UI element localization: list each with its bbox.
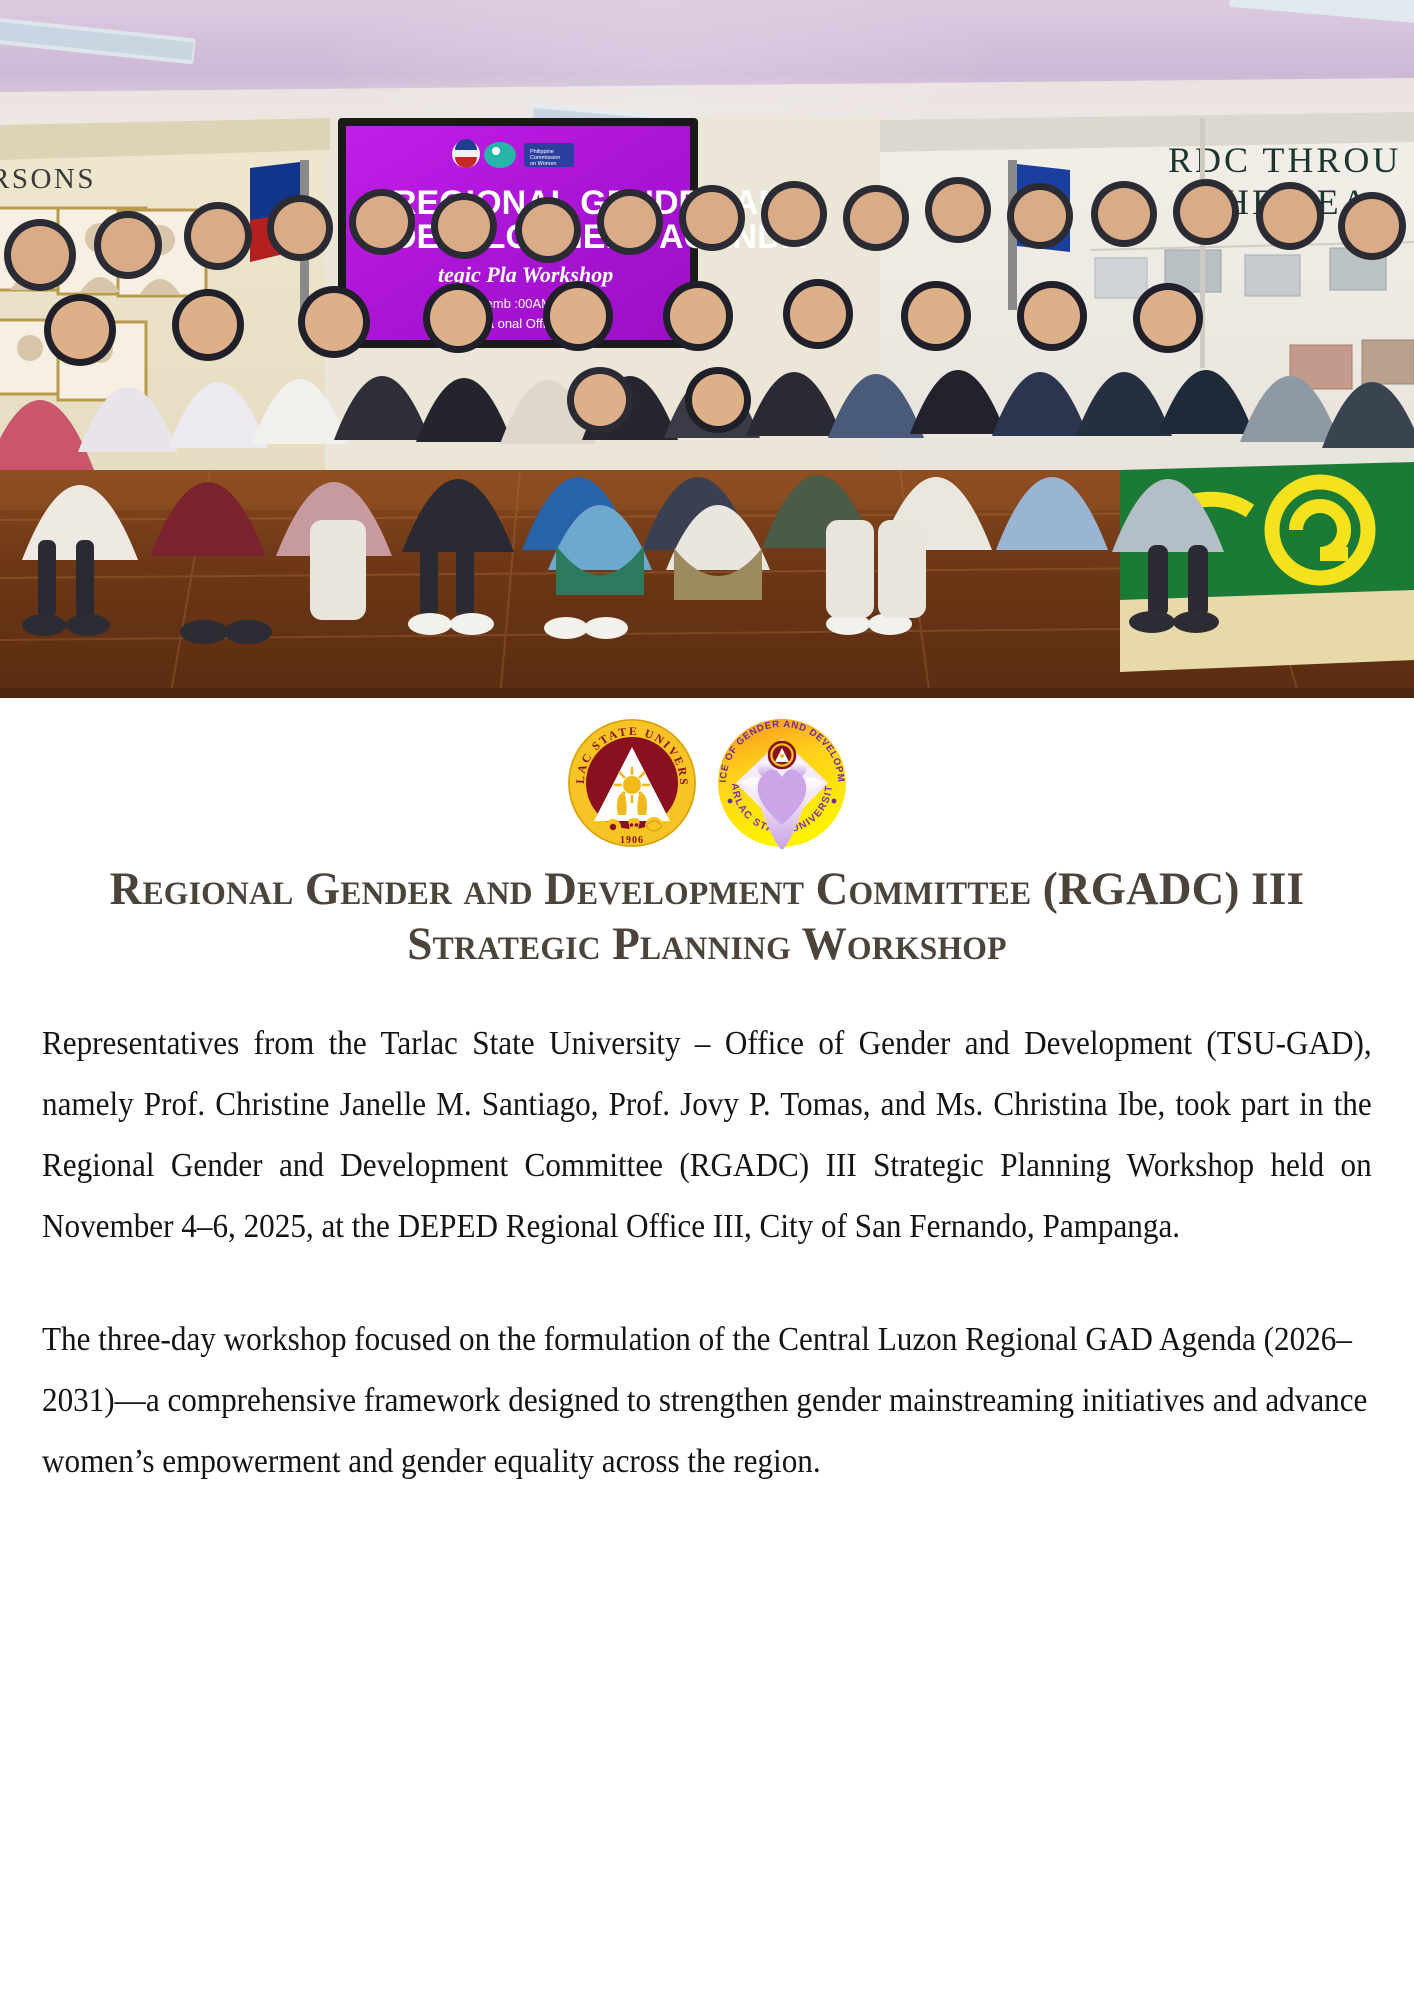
paragraph-1: Representatives from the Tarlac State Un… bbox=[42, 1013, 1372, 1257]
event-group-photo: RSONS RDC THROU THE YEA bbox=[0, 0, 1414, 698]
svg-text:on Women: on Women bbox=[530, 161, 557, 167]
paragraph-2: The three-day workshop focused on the fo… bbox=[42, 1309, 1372, 1492]
tsu-year: 1906 bbox=[620, 835, 644, 846]
left-wall-text: RSONS bbox=[0, 163, 96, 195]
institution-logos: TARLAC STATE UNIVERSITY 1906 bbox=[0, 698, 1414, 856]
article-page: RSONS RDC THROU THE YEA bbox=[0, 0, 1414, 2000]
office-of-gender-and-development-seal: OFFICE OF GENDER AND DEVELOPMENT TARLAC … bbox=[716, 717, 848, 849]
photo-illustration: RSONS RDC THROU THE YEA bbox=[0, 0, 1414, 698]
seal-emblems bbox=[605, 817, 663, 835]
page-title: Regional Gender and Development Committe… bbox=[28, 856, 1385, 971]
page-title-line-1: Regional Gender and Development Committe… bbox=[110, 863, 1032, 915]
tarlac-state-university-seal: TARLAC STATE UNIVERSITY 1906 bbox=[566, 717, 698, 849]
article-body: Representatives from the Tarlac State Un… bbox=[0, 971, 1414, 1492]
